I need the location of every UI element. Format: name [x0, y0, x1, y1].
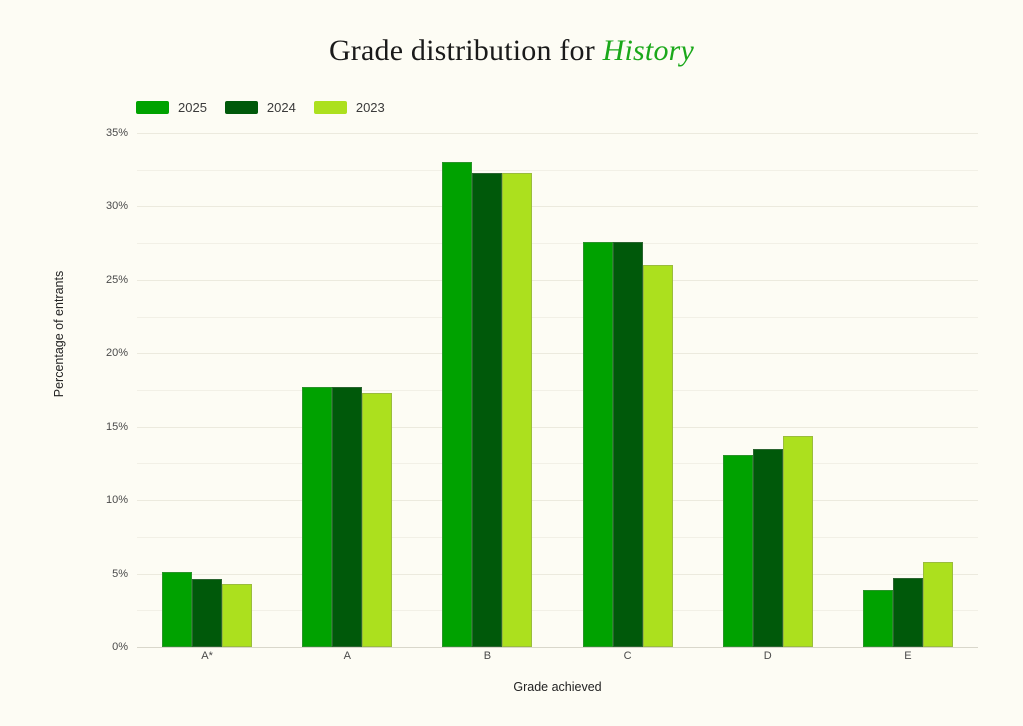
bar-2024-astar[interactable] — [192, 579, 222, 647]
y-tick-label: 35% — [84, 127, 128, 139]
bar-group-a — [277, 133, 417, 647]
bar-2023-d[interactable] — [783, 436, 813, 647]
legend-label-2025: 2025 — [178, 101, 207, 114]
bars-layer — [137, 133, 978, 647]
y-tick-label: 30% — [84, 200, 128, 212]
bar-2024-d[interactable] — [753, 449, 783, 647]
legend-label-2024: 2024 — [267, 101, 296, 114]
y-axis-title: Percentage of entrants — [52, 234, 66, 434]
bar-group-d — [698, 133, 838, 647]
bar-group-astar — [137, 133, 277, 647]
bar-2025-e[interactable] — [863, 590, 893, 647]
bar-2024-c[interactable] — [613, 242, 643, 647]
bar-2024-a[interactable] — [332, 387, 362, 647]
bar-2025-b[interactable] — [442, 162, 472, 647]
bar-2023-astar[interactable] — [222, 584, 252, 647]
y-tick-label: 25% — [84, 274, 128, 286]
bar-2023-e[interactable] — [923, 562, 953, 647]
y-tick-label: 15% — [84, 421, 128, 433]
title-prefix: Grade distribution for — [329, 34, 603, 67]
legend-label-2023: 2023 — [356, 101, 385, 114]
x-tick-label: D — [708, 650, 828, 662]
legend-item-2025[interactable]: 2025 — [136, 101, 207, 114]
x-axis: A*ABCDE — [137, 650, 978, 670]
legend-item-2023[interactable]: 2023 — [314, 101, 385, 114]
bar-group-e — [838, 133, 978, 647]
x-tick-label: B — [427, 650, 547, 662]
y-tick-label: 10% — [84, 494, 128, 506]
x-axis-title: Grade achieved — [137, 680, 978, 694]
bar-group-c — [558, 133, 698, 647]
bar-2023-b[interactable] — [502, 173, 532, 647]
bar-2024-b[interactable] — [472, 173, 502, 647]
bar-group-b — [417, 133, 557, 647]
bar-2025-c[interactable] — [583, 242, 613, 647]
bar-2025-d[interactable] — [723, 455, 753, 647]
y-tick-label: 5% — [84, 568, 128, 580]
page-title: Grade distribution for History — [0, 34, 1023, 68]
x-tick-label: C — [568, 650, 688, 662]
y-tick-label: 0% — [84, 641, 128, 653]
y-tick-label: 20% — [84, 347, 128, 359]
bar-2023-c[interactable] — [643, 265, 673, 647]
legend-swatch-2023-icon — [314, 101, 347, 114]
x-tick-label: A — [287, 650, 407, 662]
bar-2025-astar[interactable] — [162, 572, 192, 647]
bar-2024-e[interactable] — [893, 578, 923, 647]
axis-baseline — [137, 647, 978, 648]
title-subject: History — [603, 34, 694, 67]
bar-2025-a[interactable] — [302, 387, 332, 647]
x-tick-label: A* — [147, 650, 267, 662]
y-axis: 0%5%10%15%20%25%30%35% — [78, 133, 128, 647]
legend-item-2024[interactable]: 2024 — [225, 101, 296, 114]
chart-legend: 2025 2024 2023 — [136, 101, 385, 114]
legend-swatch-2024-icon — [225, 101, 258, 114]
bar-2023-a[interactable] — [362, 393, 392, 647]
x-tick-label: E — [848, 650, 968, 662]
legend-swatch-2025-icon — [136, 101, 169, 114]
